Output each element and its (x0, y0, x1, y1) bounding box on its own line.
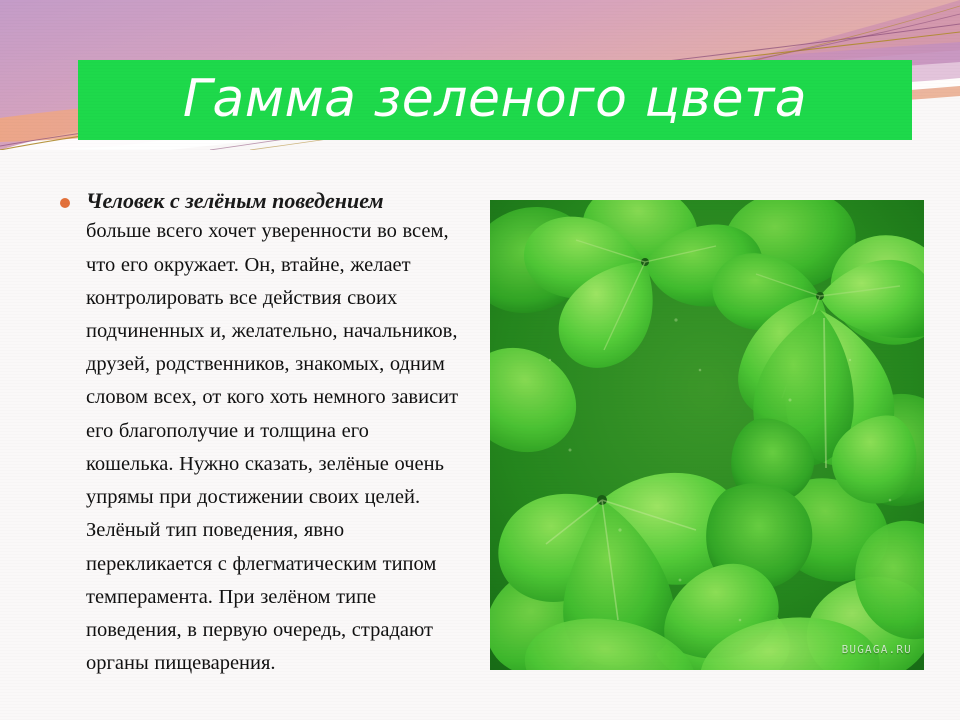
page-title: Гамма зеленого цвета (183, 73, 807, 125)
bullet-dot-icon (60, 198, 70, 208)
clover-leaves-illustration (490, 200, 924, 670)
slide-title-bar: Гамма зеленого цвета (78, 60, 912, 140)
lead-sentence: Человек с зелёным поведением (86, 186, 462, 215)
body-text-column: Человек с зелёным поведением больше всег… (52, 186, 462, 680)
clover-photo: BUGAGA.RU (490, 200, 924, 670)
slide-content: Человек с зелёным поведением больше всег… (0, 180, 960, 700)
bullet-list-item: Человек с зелёным поведением (52, 186, 462, 215)
slide-canvas: Гамма зеленого цвета Человек с зелёным п… (0, 0, 960, 720)
photo-watermark: BUGAGA.RU (842, 643, 912, 656)
body-paragraph: больше всего хочет уверенности во всем, … (52, 215, 462, 680)
